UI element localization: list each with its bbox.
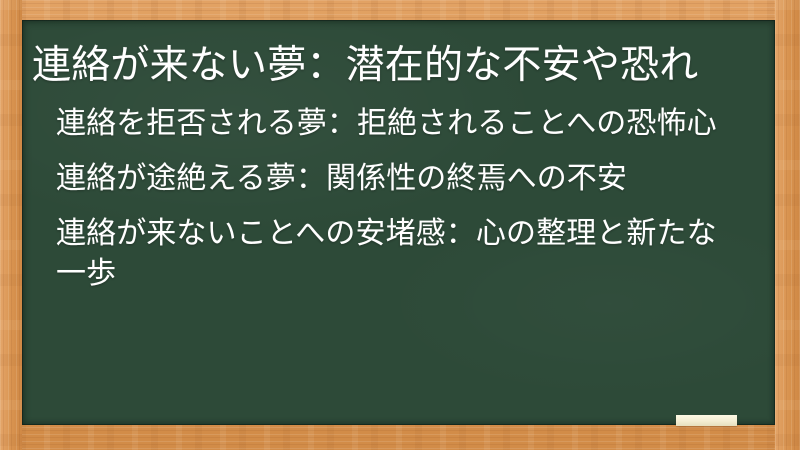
chalk-stick (676, 415, 737, 426)
board-title: 連絡が来ない夢：潜在的な不安や恐れ (22, 42, 775, 90)
wooden-frame-right-rail (775, 0, 800, 450)
chalkboard-figure: 連絡が来ない夢：潜在的な不安や恐れ 連絡を拒否される夢：拒絶されることへの恐怖心… (0, 0, 800, 450)
board-list-item: 連絡が途絶える夢：関係性の終焉への不安 (56, 159, 739, 199)
wooden-frame-left-rail (0, 0, 22, 450)
board-list-item: 連絡を拒否される夢：拒絶されることへの恐怖心 (56, 104, 739, 144)
board-list-item: 連絡が来ないことへの安堵感：心の整理と新たな一歩 (56, 214, 739, 294)
blackboard-surface: 連絡が来ない夢：潜在的な不安や恐れ 連絡を拒否される夢：拒絶されることへの恐怖心… (22, 20, 775, 425)
board-topic-list: 連絡を拒否される夢：拒絶されることへの恐怖心 連絡が途絶える夢：関係性の終焉への… (46, 104, 753, 294)
